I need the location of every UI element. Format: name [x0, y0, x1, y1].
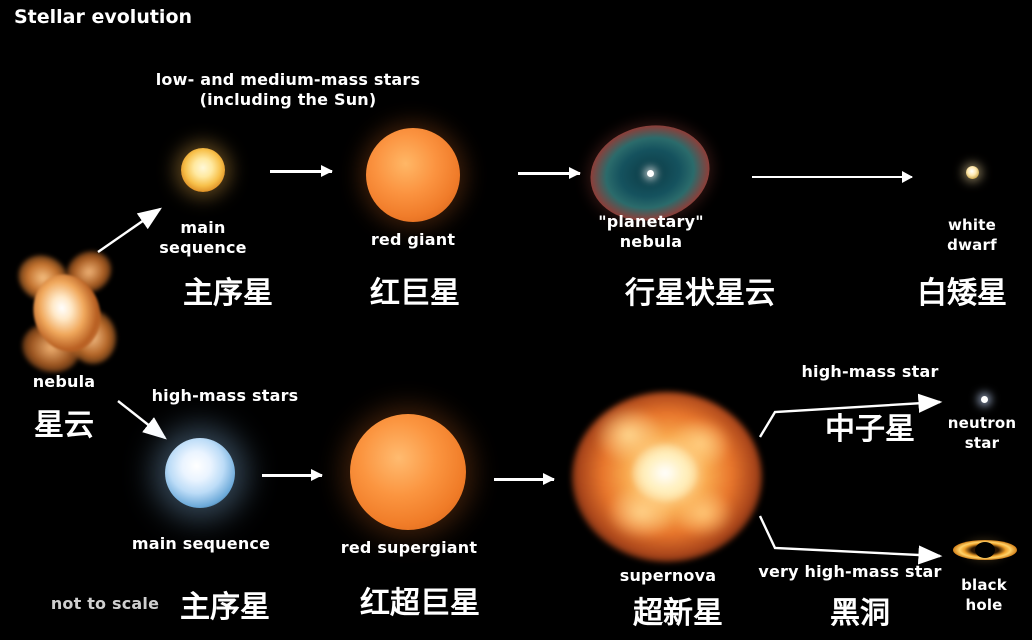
neutron-star-label-cn: 中子星 [790, 404, 950, 448]
main-sequence-low-label-en-line1: main [128, 218, 278, 237]
planetary-nebula-graphic [590, 126, 710, 220]
red-giant-label-cn: 红巨星 [330, 268, 500, 312]
black-hole-label-en-line1: black [938, 576, 1030, 595]
nebula-graphic [12, 248, 124, 378]
red-giant-label-en: red giant [338, 230, 488, 249]
arrow-ms-to-red-giant [270, 170, 332, 173]
planetary-nebula-label-cn: 行星状星云 [570, 268, 830, 312]
black-hole-label-en-line2: hole [938, 596, 1030, 615]
red-giant-star-graphic [366, 128, 460, 222]
white-dwarf-label-cn: 白矮星 [892, 268, 1032, 312]
main-sequence-low-label-cn: 主序星 [128, 268, 328, 312]
nebula-label-cn: 星云 [8, 400, 120, 444]
arrow-ms-high-to-red-supergiant [262, 474, 322, 477]
arrow-planetary-nebula-to-white-dwarf [752, 176, 912, 178]
main-sequence-low-label-en-line2: sequence [128, 238, 278, 257]
black-hole-path-label: very high-mass star [752, 562, 948, 581]
planetary-nebula-label-en-line2: nebula [578, 232, 724, 251]
nebula-label-en: nebula [8, 372, 120, 391]
low-mass-branch-header-line2: (including the Sun) [133, 90, 443, 109]
low-mass-branch-header-line1: low- and medium-mass stars [133, 70, 443, 89]
red-supergiant-label-cn: 红超巨星 [320, 578, 520, 622]
black-hole-label-cn: 黑洞 [780, 588, 940, 632]
not-to-scale-note: not to scale [40, 594, 170, 613]
red-supergiant-label-en: red supergiant [334, 538, 484, 557]
high-mass-branch-header: high-mass stars [120, 386, 330, 405]
supernova-graphic [572, 392, 762, 562]
arrow-red-giant-to-planetary-nebula [518, 172, 580, 175]
main-sequence-high-star-graphic [165, 438, 235, 508]
page-title: Stellar evolution [14, 6, 192, 28]
main-sequence-low-star-graphic [181, 148, 225, 192]
supernova-label-cn: 超新星 [578, 588, 778, 632]
white-dwarf-star-graphic [966, 166, 979, 179]
planetary-nebula-label-en-line1: "planetary" [578, 212, 724, 231]
red-supergiant-star-graphic [350, 414, 466, 530]
white-dwarf-label-en-line2: dwarf [922, 236, 1022, 255]
main-sequence-high-label-en: main sequence [125, 534, 277, 553]
white-dwarf-label-en-line1: white [922, 216, 1022, 235]
arrow-red-supergiant-to-supernova [494, 478, 554, 481]
supernova-label-en: supernova [588, 566, 748, 585]
neutron-star-path-label: high-mass star [790, 362, 950, 381]
stellar-evolution-diagram: Stellar evolution low- and medium-mass s… [0, 0, 1032, 640]
neutron-star-graphic [981, 396, 988, 403]
black-hole-graphic [953, 530, 1017, 570]
